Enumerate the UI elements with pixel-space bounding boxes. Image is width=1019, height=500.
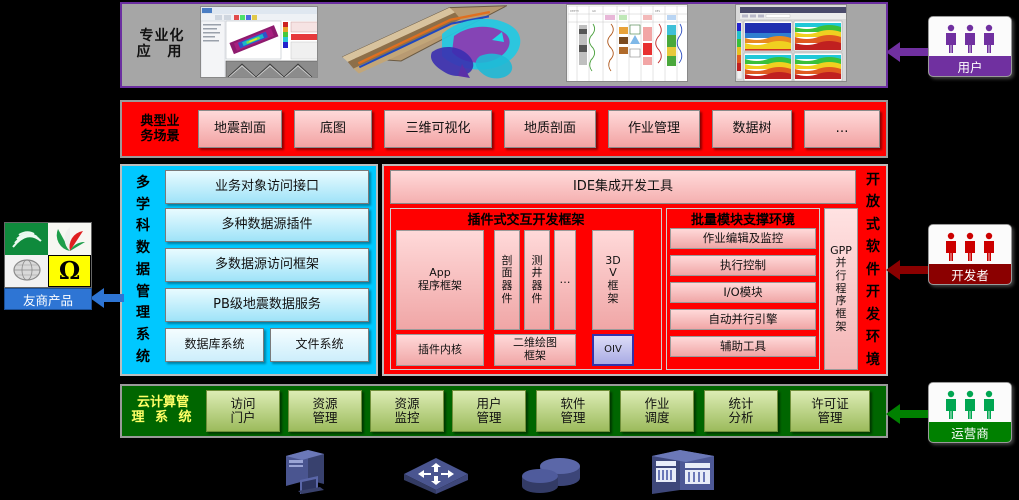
- user-arrow: [886, 40, 932, 64]
- data-item-business-object-access-interface[interactable]: 业务对象访问接口: [165, 170, 369, 204]
- data-panel-label-char: 学: [136, 197, 150, 213]
- cloud-item-line1: 资源: [394, 397, 419, 411]
- application-band-label: 专业化 应 用: [128, 18, 196, 70]
- cloud-item-line2: 管理: [817, 411, 842, 425]
- screenshot-3d-geobody-visualization[interactable]: [336, 4, 540, 84]
- cloud-item-job-scheduling[interactable]: 作业 调度: [620, 390, 694, 432]
- 3d-viewer-framework-box[interactable]: 3D V 框 架: [592, 230, 634, 330]
- svg-text:LITH: LITH: [619, 9, 625, 13]
- dev-panel-label-char: 发: [866, 307, 880, 323]
- dev-panel-label-char: 环: [866, 329, 880, 345]
- cloud-item-line2: 管理: [312, 411, 337, 425]
- batch-item-job-edit-monitor[interactable]: 作业编辑及监控: [670, 228, 816, 249]
- storage-disks-icon: [518, 450, 586, 498]
- section-component-box[interactable]: 剖 面 器 件: [494, 230, 520, 330]
- server-rack-icon: [648, 446, 720, 498]
- cloud-item-line2: 管理: [476, 411, 501, 425]
- batch-item-auto-parallel-engine[interactable]: 自动并行引擎: [670, 309, 816, 330]
- gpp-char: 架: [836, 321, 847, 334]
- scenario-item-base-map[interactable]: 底图: [294, 110, 372, 148]
- svg-text:RES: RES: [655, 9, 660, 13]
- cloud-item-license-management[interactable]: 许可证 管理: [790, 390, 870, 432]
- cloud-band-label-line1: 云计算管: [137, 396, 189, 411]
- scenario-item-job-management[interactable]: 作业管理: [608, 110, 700, 148]
- section-component-char: 器: [502, 280, 513, 293]
- scenario-item-more[interactable]: …: [804, 110, 880, 148]
- well-log-component-box[interactable]: 测 井 器 件: [524, 230, 550, 330]
- data-panel-label-char: 管: [136, 284, 150, 300]
- cloud-item-line2: 管理: [560, 411, 585, 425]
- globe-logo-icon: [5, 255, 48, 287]
- app-framework-line2: 程序框架: [418, 280, 462, 293]
- operator-arrow: [886, 402, 932, 426]
- screenshot-well-log-correlation-app[interactable]: DEPTHGRLITHRES: [566, 4, 688, 82]
- data-panel-label: 多 学 科 数 据 管 理 系 统: [130, 172, 156, 368]
- drawing-framework-line2: 框架: [524, 350, 546, 363]
- scenario-item-3d-visualization[interactable]: 三维可视化: [384, 110, 492, 148]
- screenshot-seismic-analysis-app[interactable]: [200, 6, 318, 78]
- cloud-item-line1: 资源: [312, 397, 337, 411]
- gpp-parallel-program-framework-box[interactable]: GPP 并 行 程 序 框 架: [824, 208, 858, 370]
- data-item-file-system[interactable]: 文件系统: [270, 328, 369, 362]
- oiv-box[interactable]: OIV: [592, 334, 634, 366]
- cloud-item-line1: 访问: [230, 397, 255, 411]
- actor-card-operator[interactable]: 运营商: [928, 382, 1012, 443]
- data-panel-label-char: 理: [136, 305, 150, 321]
- viewer3d-char: 框: [608, 280, 619, 293]
- gpp-char: 行: [836, 270, 847, 283]
- cloud-item-resource-monitoring[interactable]: 资源 监控: [370, 390, 444, 432]
- dev-panel-label-char: 放: [866, 194, 880, 210]
- data-panel-label-char: 科: [136, 218, 150, 234]
- cloud-item-line1: 用户: [476, 397, 501, 411]
- data-panel-label-char: 据: [136, 262, 150, 278]
- actor-caption-developer: 开发者: [929, 264, 1011, 284]
- people-icon: [929, 225, 1011, 264]
- cloud-item-line1: 作业: [644, 397, 669, 411]
- scenario-band-label-line1: 典型业: [140, 115, 179, 130]
- cloud-band-label-line2: 理 系 统: [131, 411, 194, 426]
- batch-item-auxiliary-tools[interactable]: 辅助工具: [670, 336, 816, 357]
- people-icon: [929, 17, 1011, 56]
- dev-panel-label-char: 开: [866, 172, 880, 188]
- well-log-component-char: 器: [532, 280, 543, 293]
- wave-logo-icon: [5, 223, 48, 255]
- workstation-icon: [278, 446, 340, 498]
- plugin-framework-title: 插件式交互开发框架: [391, 212, 661, 230]
- actor-caption-user: 用户: [929, 56, 1011, 76]
- actor-card-developer[interactable]: 开发者: [928, 224, 1012, 285]
- network-switch-icon: [398, 450, 474, 498]
- data-item-pb-seismic-data-service[interactable]: PB级地震数据服务: [165, 288, 369, 322]
- developer-arrow: [886, 258, 932, 282]
- vendor-arrow: [90, 286, 124, 310]
- actor-caption-operator: 运营商: [929, 422, 1011, 442]
- scenario-band-label: 典型业 务场景: [129, 113, 191, 147]
- section-component-char: 件: [502, 293, 513, 306]
- cloud-item-line2: 调度: [644, 411, 669, 425]
- omega-glyph: Ω: [59, 259, 80, 283]
- 2d-drawing-framework-box[interactable]: 二维绘图 框架: [494, 334, 576, 366]
- cloud-item-line1: 软件: [560, 397, 585, 411]
- scenario-item-data-tree[interactable]: 数据树: [712, 110, 792, 148]
- dev-panel-label-char: 境: [866, 352, 880, 368]
- data-panel-label-char: 多: [136, 175, 150, 191]
- batch-item-io-module[interactable]: I/O模块: [670, 282, 816, 303]
- data-item-database-system[interactable]: 数据库系统: [165, 328, 264, 362]
- viewer3d-char: 架: [608, 293, 619, 306]
- gpp-char: 框: [836, 308, 847, 321]
- actor-card-user[interactable]: 用户: [928, 16, 1012, 77]
- vendor-caption: 友商产品: [4, 288, 92, 310]
- cloud-item-line2: 分析: [728, 411, 753, 425]
- data-panel-label-char: 系: [136, 327, 150, 343]
- cloud-item-line1: 许可证: [811, 397, 849, 411]
- data-item-multi-source-plugins[interactable]: 多种数据源插件: [165, 208, 369, 242]
- cloud-item-user-management[interactable]: 用户 管理: [452, 390, 526, 432]
- cloud-item-resource-management[interactable]: 资源 管理: [288, 390, 362, 432]
- application-band-label-line2: 应 用: [137, 44, 188, 60]
- dev-panel-label-char: 开: [866, 284, 880, 300]
- vendor-logo-grid: Ω: [4, 222, 92, 288]
- ide-integrated-development-tool[interactable]: IDE集成开发工具: [390, 170, 856, 204]
- dev-panel-label-char: 软: [866, 239, 880, 255]
- svg-text:DEPTH: DEPTH: [570, 9, 579, 13]
- cloud-band-label: 云计算管 理 系 统: [128, 394, 198, 428]
- more-components-box[interactable]: …: [554, 230, 576, 330]
- dev-panel-label-char: 式: [866, 217, 880, 233]
- cloud-item-line2: 监控: [394, 411, 419, 425]
- scenario-item-seismic-section[interactable]: 地震剖面: [198, 110, 282, 148]
- data-item-multi-source-access-framework[interactable]: 多数据源访问框架: [165, 248, 369, 282]
- plugin-kernel-box[interactable]: 插件内核: [396, 334, 484, 366]
- dev-panel-label: 开 放 式 软 件 开 发 环 境: [862, 170, 884, 370]
- data-panel-label-char: 统: [136, 349, 150, 365]
- people-icon: [929, 383, 1011, 422]
- application-band-label-line1: 专业化: [140, 28, 185, 44]
- screenshot-multi-panel-seismic-sections[interactable]: [735, 4, 847, 82]
- batch-item-execution-control[interactable]: 执行控制: [670, 255, 816, 276]
- scenario-band-label-line2: 务场景: [140, 130, 179, 145]
- cloud-item-access-portal[interactable]: 访问 门户: [206, 390, 280, 432]
- vendor-products-card[interactable]: Ω 友商产品: [4, 222, 92, 310]
- svg-text:GR: GR: [592, 9, 596, 13]
- app-program-framework-box[interactable]: App 程序框架: [396, 230, 484, 330]
- cloud-item-line2: 门户: [230, 411, 255, 425]
- cloud-item-statistics-analysis[interactable]: 统计 分析: [704, 390, 778, 432]
- data-panel-label-char: 数: [136, 240, 150, 256]
- cloud-item-line1: 统计: [728, 397, 753, 411]
- dev-panel-label-char: 件: [866, 262, 880, 278]
- cloud-item-software-management[interactable]: 软件 管理: [536, 390, 610, 432]
- fan-logo-icon: [48, 223, 91, 255]
- omega-logo-icon: Ω: [48, 255, 91, 287]
- scenario-item-geologic-section[interactable]: 地质剖面: [504, 110, 596, 148]
- well-log-component-char: 件: [532, 293, 543, 306]
